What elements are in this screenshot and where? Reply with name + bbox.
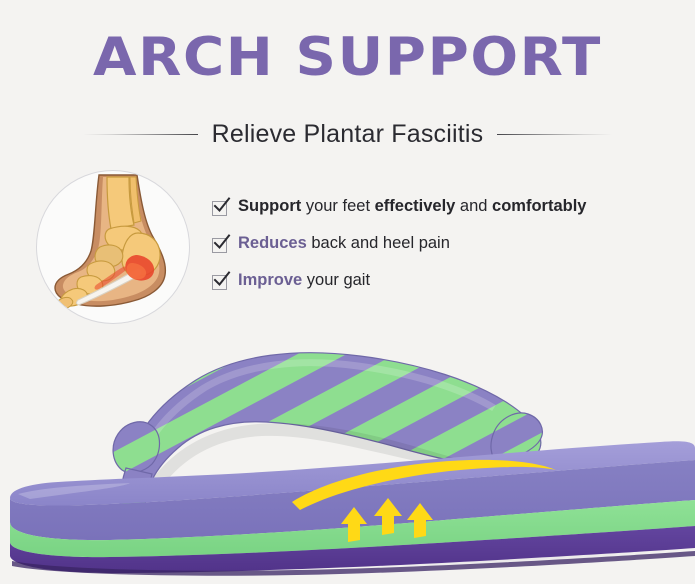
bullet-2-seg-1: Reduces [238, 234, 307, 252]
list-item-label: Support your feet effectively and comfor… [238, 196, 586, 216]
subtitle-row: Relieve Plantar Fasciitis [0, 117, 695, 151]
bullet-1-seg-2: your feet [301, 197, 374, 215]
checkbox-checked-icon [212, 238, 227, 253]
divider-left [83, 134, 198, 135]
divider-right [497, 134, 612, 135]
bullet-1-seg-5: comfortably [492, 197, 586, 215]
benefit-list: Support your feet effectively and comfor… [212, 196, 692, 307]
product-image-flip-flop [0, 330, 695, 579]
checkbox-checked-icon [212, 201, 227, 216]
foot-anatomy-icon [37, 171, 189, 323]
flip-flop-illustration [0, 330, 695, 579]
promo-graphic: ARCH SUPPORT Relieve Plantar Fasciitis [0, 0, 695, 579]
bullet-1-seg-1: Support [238, 197, 301, 215]
bullet-1-seg-3: effectively [375, 197, 456, 215]
bullet-3-seg-1: Improve [238, 271, 302, 289]
bullet-3-seg-2: your gait [302, 271, 370, 289]
bullet-1-seg-4: and [455, 197, 492, 215]
page-title: ARCH SUPPORT [0, 28, 695, 88]
foot-anatomy-illustration [36, 170, 190, 324]
list-item-label: Reduces back and heel pain [238, 233, 450, 253]
list-item: Reduces back and heel pain [212, 233, 692, 270]
checkbox-checked-icon [212, 275, 227, 290]
list-item-label: Improve your gait [238, 270, 370, 290]
list-item: Support your feet effectively and comfor… [212, 196, 692, 233]
bullet-2-seg-2: back and heel pain [307, 234, 450, 252]
subtitle: Relieve Plantar Fasciitis [212, 120, 484, 149]
list-item: Improve your gait [212, 270, 692, 307]
